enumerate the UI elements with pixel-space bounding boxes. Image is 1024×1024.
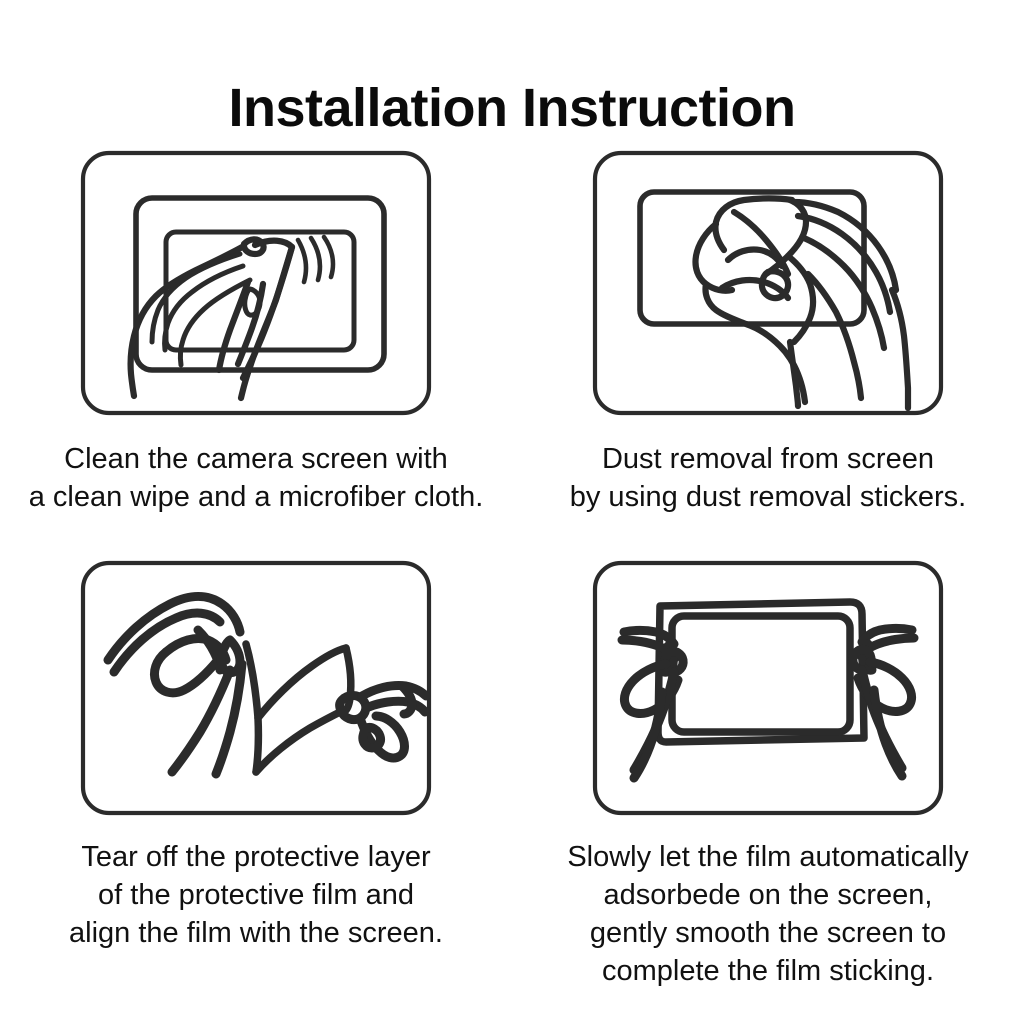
film-upper-flap-3 [258, 648, 346, 718]
film-spine-3 [246, 644, 258, 772]
step-caption-2: Dust removal from screen by using dust r… [570, 440, 966, 516]
step-card-3: Tear off the protective layer of the pro… [0, 560, 512, 1024]
steps-grid: Clean the camera screen with a clean wip… [0, 150, 1024, 1024]
wrist-2 [790, 342, 798, 406]
hand-edge-2 [788, 256, 813, 342]
hand-outline-1 [131, 246, 244, 396]
knuckle-detail-1 [245, 289, 260, 315]
step-card-1: Clean the camera screen with a clean wip… [0, 150, 512, 560]
page-title: Installation Instruction [0, 80, 1024, 137]
apply-film-to-screen-illustration [592, 560, 944, 816]
step-caption-3: Tear off the protective layer of the pro… [69, 838, 443, 952]
device-screen-4 [672, 616, 850, 732]
hand-outer-2 [892, 290, 908, 408]
peel-protective-layer-illustration [80, 560, 432, 816]
finger-2d [808, 274, 861, 398]
motion-line-1c [324, 237, 333, 277]
film-lower-flap-3 [256, 710, 344, 772]
film-sheet-4 [658, 602, 864, 742]
step-caption-1: Clean the camera screen with a clean wip… [29, 440, 484, 516]
instruction-sheet: Installation Instruction [0, 0, 1024, 1024]
dust-removal-sticker-illustration [592, 150, 944, 416]
motion-line-1b [311, 238, 320, 280]
step-card-2: Dust removal from screen by using dust r… [512, 150, 1024, 560]
motion-line-1a [298, 240, 306, 282]
step-caption-4: Slowly let the film automatically adsorb… [567, 838, 968, 990]
right-finger-3a [362, 685, 426, 696]
wipe-screen-with-cloth-illustration [80, 150, 432, 416]
pinch-finger-3b [154, 652, 218, 693]
step-card-4: Slowly let the film automatically adsorb… [512, 560, 1024, 1024]
